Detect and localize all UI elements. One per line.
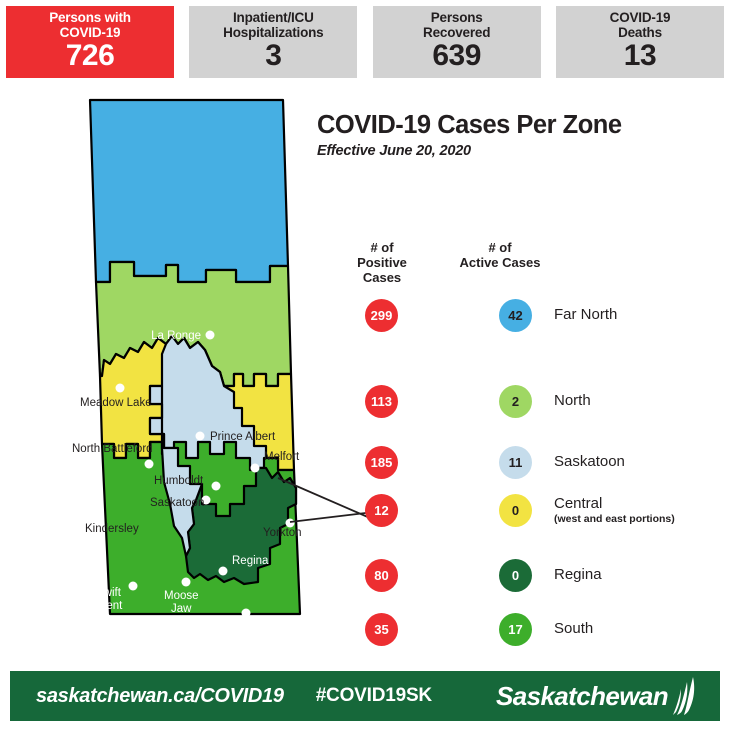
positive-cases-bubble: 185 [365, 446, 398, 479]
active-cases-bubble: 0 [499, 494, 532, 527]
city-label-humboldt: Humboldt [154, 475, 204, 487]
zone-sublabel: (west and east portions) [554, 513, 675, 525]
zone-legend: # of Positive Cases # of Active Cases 29… [330, 240, 720, 300]
zone-label: Regina [554, 567, 602, 583]
stat-card-label: Inpatient/ICU Hospitalizations [223, 10, 323, 40]
stat-label-line2: COVID-19 [60, 25, 121, 40]
stat-label-line1: Persons with [49, 10, 131, 25]
page-title: COVID-19 Cases Per Zone [317, 110, 622, 140]
zone-label: Saskatoon [554, 454, 625, 470]
stat-card-persons-recovered: Persons Recovered 639 [373, 6, 541, 78]
zone-label-group: Central (west and east portions) [554, 496, 675, 525]
zone-label: Central [554, 496, 675, 512]
active-cases-bubble: 11 [499, 446, 532, 479]
stat-card-covid19-deaths: COVID-19 Deaths 13 [556, 6, 724, 78]
legend-header-active-line1: # of [488, 240, 511, 255]
city-label-kindersley: Kindersley [85, 523, 139, 535]
city-dot-moose-jaw [182, 578, 191, 587]
city-dot-la-ronge [206, 331, 215, 340]
stat-label-line1: Inpatient/ICU [233, 10, 314, 25]
positive-cases-bubble: 113 [365, 385, 398, 418]
stat-label-line2: Hospitalizations [223, 25, 323, 40]
city-label-meadow-lake: Meadow Lake [80, 397, 152, 409]
active-cases-bubble: 17 [499, 613, 532, 646]
legend-header-positive-cases: # of Positive Cases [344, 240, 420, 285]
legend-column-headers: # of Positive Cases # of Active Cases [330, 240, 720, 300]
summary-stats-bar: Persons with COVID-19 726 Inpatient/ICU … [0, 6, 730, 78]
map-zone-far-north [90, 100, 288, 282]
city-label-yorkton: Yorkton [263, 527, 302, 539]
effective-date-subtitle: Effective June 20, 2020 [317, 143, 622, 159]
stat-card-label: Persons with COVID-19 [49, 10, 131, 40]
active-cases-bubble: 0 [499, 559, 532, 592]
footer-brand-wordmark: Saskatchewan [496, 681, 668, 712]
city-label-la-ronge: La Ronge [151, 330, 201, 342]
zone-label: North [554, 393, 591, 409]
positive-cases-bubble: 35 [365, 613, 398, 646]
legend-header-active-cases: # of Active Cases [440, 240, 560, 270]
legend-header-positive-line1: # of [370, 240, 393, 255]
stat-label-line2: Recovered [423, 25, 490, 40]
legend-header-positive-line2: Positive [357, 255, 407, 270]
city-dot-kindersley [72, 523, 81, 532]
city-dot-north-battleford [145, 460, 154, 469]
stat-card-label: COVID-19 Deaths [610, 10, 671, 40]
stat-value: 726 [66, 39, 115, 73]
legend-row-central: 12 0 Central (west and east portions) [330, 493, 675, 527]
stat-label-line1: Persons [431, 10, 483, 25]
legend-header-active-line2: Active Cases [460, 255, 541, 270]
stat-label-line1: COVID-19 [610, 10, 671, 25]
city-label-moose-jaw-line2: Jaw [171, 603, 192, 615]
city-dot-swift-current [129, 582, 138, 591]
city-label-saskatoon: Saskatoon [150, 497, 204, 509]
legend-row-saskatoon: 185 11 Saskatoon [330, 445, 625, 479]
stat-value: 639 [432, 39, 481, 73]
city-dot-melfort [251, 464, 260, 473]
city-label-moose-jaw-line1: Moose [164, 590, 199, 602]
wheat-sheaf-logo-icon [672, 676, 698, 716]
stat-card-persons-with-covid19: Persons with COVID-19 726 [6, 6, 174, 78]
city-label-swift-current-line1: Swift [96, 587, 122, 599]
legend-row-south: 35 17 South [330, 612, 593, 646]
footer-website-url[interactable]: saskatchewan.ca/COVID19 [36, 685, 284, 708]
stat-value: 13 [624, 39, 656, 73]
legend-row-regina: 80 0 Regina [330, 558, 602, 592]
saskatchewan-zone-map: La Ronge Meadow Lake Prince Albert North… [38, 86, 338, 646]
city-dot-humboldt [212, 482, 221, 491]
city-dot-regina [219, 567, 228, 576]
active-cases-bubble: 42 [499, 299, 532, 332]
city-label-regina: Regina [232, 555, 269, 567]
zone-label: South [554, 621, 593, 637]
legend-row-far-north: 299 42 Far North [330, 298, 617, 332]
city-label-north-battleford: North Battleford [72, 443, 153, 455]
footer-bar: saskatchewan.ca/COVID19 #COVID19SK Saska… [10, 671, 720, 721]
legend-row-north: 113 2 North [330, 384, 591, 418]
positive-cases-bubble: 80 [365, 559, 398, 592]
city-label-melfort: Melfort [264, 451, 300, 463]
title-block: COVID-19 Cases Per Zone Effective June 2… [317, 110, 622, 159]
active-cases-bubble: 2 [499, 385, 532, 418]
stat-card-label: Persons Recovered [423, 10, 490, 40]
stat-value: 3 [265, 39, 281, 73]
legend-header-positive-line3: Cases [363, 270, 401, 285]
city-label-prince-albert: Prince Albert [210, 431, 276, 443]
stat-card-hospitalizations: Inpatient/ICU Hospitalizations 3 [189, 6, 357, 78]
zone-label: Far North [554, 307, 617, 323]
positive-cases-bubble: 299 [365, 299, 398, 332]
city-dot-prince-albert [196, 432, 205, 441]
city-label-weyburn: Weyburn [224, 622, 270, 634]
footer-hashtag: #COVID19SK [316, 685, 432, 707]
city-dot-meadow-lake [116, 384, 125, 393]
stat-label-line2: Deaths [618, 25, 662, 40]
city-dot-weyburn [242, 609, 251, 618]
city-label-swift-current-line2: Current [84, 600, 123, 612]
positive-cases-bubble: 12 [365, 494, 398, 527]
